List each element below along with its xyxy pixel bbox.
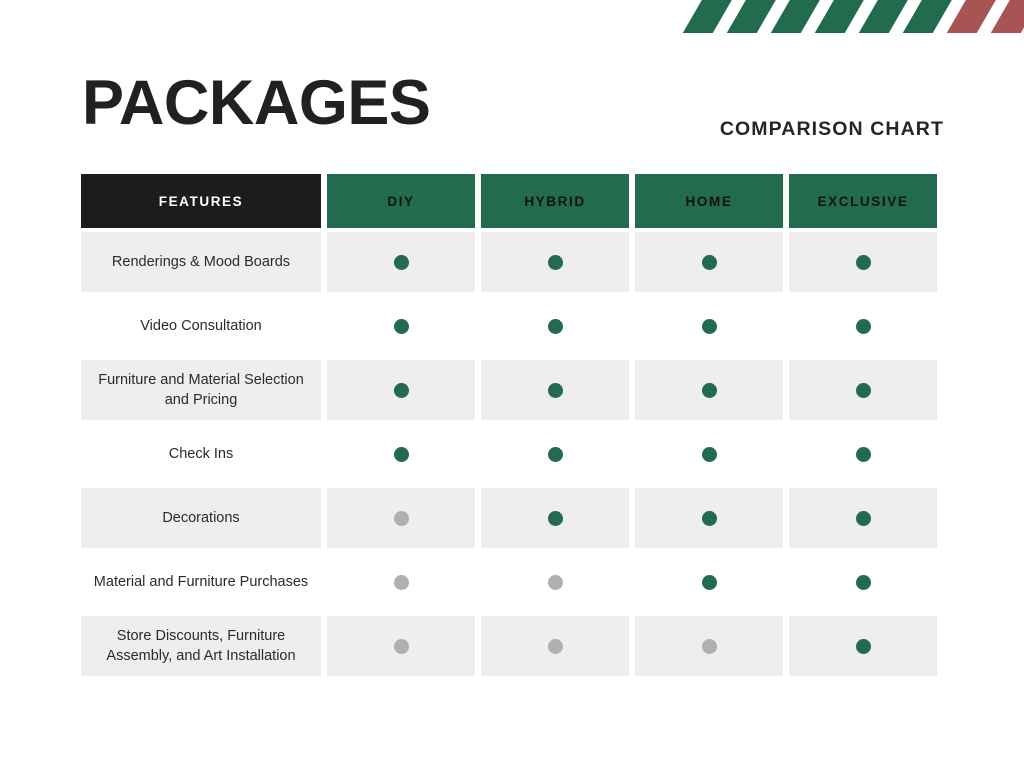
availability-cell-home: [635, 360, 783, 420]
page-title: PACKAGES: [82, 72, 430, 135]
availability-cell-diy: [327, 616, 475, 676]
availability-cell-exclusive: [789, 360, 937, 420]
column-header-hybrid: HYBRID: [481, 174, 629, 228]
table-row: Video Consultation: [81, 296, 944, 356]
availability-cell-home: [635, 488, 783, 548]
column-header-home: HOME: [635, 174, 783, 228]
availability-cell-hybrid: [481, 488, 629, 548]
availability-cell-diy: [327, 424, 475, 484]
included-dot-icon: [856, 511, 871, 526]
feature-label: Renderings & Mood Boards: [81, 232, 321, 292]
availability-cell-diy: [327, 360, 475, 420]
availability-cell-hybrid: [481, 296, 629, 356]
feature-label: Store Discounts, Furniture Assembly, and…: [81, 616, 321, 676]
stripe-green: [679, 0, 736, 33]
included-dot-icon: [702, 575, 717, 590]
included-dot-icon: [548, 319, 563, 334]
availability-cell-home: [635, 232, 783, 292]
column-header-exclusive: EXCLUSIVE: [789, 174, 937, 228]
included-dot-icon: [394, 319, 409, 334]
availability-cell-home: [635, 616, 783, 676]
included-dot-icon: [548, 383, 563, 398]
excluded-dot-icon: [394, 575, 409, 590]
included-dot-icon: [548, 255, 563, 270]
column-header-diy: DIY: [327, 174, 475, 228]
availability-cell-home: [635, 552, 783, 612]
feature-label: Check Ins: [81, 424, 321, 484]
availability-cell-hybrid: [481, 552, 629, 612]
excluded-dot-icon: [548, 575, 563, 590]
included-dot-icon: [548, 511, 563, 526]
availability-cell-hybrid: [481, 360, 629, 420]
table-body: Renderings & Mood BoardsVideo Consultati…: [81, 232, 944, 676]
stripe-red: [943, 0, 1000, 33]
included-dot-icon: [702, 319, 717, 334]
availability-cell-home: [635, 296, 783, 356]
availability-cell-home: [635, 424, 783, 484]
availability-cell-exclusive: [789, 232, 937, 292]
included-dot-icon: [394, 447, 409, 462]
included-dot-icon: [702, 255, 717, 270]
included-dot-icon: [702, 383, 717, 398]
excluded-dot-icon: [702, 639, 717, 654]
included-dot-icon: [702, 447, 717, 462]
included-dot-icon: [548, 447, 563, 462]
availability-cell-diy: [327, 232, 475, 292]
table-row: Renderings & Mood Boards: [81, 232, 944, 292]
availability-cell-exclusive: [789, 296, 937, 356]
title-block: PACKAGES COMPARISON CHART: [0, 78, 1024, 148]
stripe-green: [723, 0, 780, 33]
feature-label: Decorations: [81, 488, 321, 548]
availability-cell-exclusive: [789, 616, 937, 676]
availability-cell-diy: [327, 488, 475, 548]
feature-label: Video Consultation: [81, 296, 321, 356]
included-dot-icon: [856, 255, 871, 270]
table-row: Furniture and Material Selection and Pri…: [81, 360, 944, 420]
availability-cell-exclusive: [789, 552, 937, 612]
feature-label: Furniture and Material Selection and Pri…: [81, 360, 321, 420]
availability-cell-diy: [327, 552, 475, 612]
included-dot-icon: [856, 319, 871, 334]
included-dot-icon: [394, 255, 409, 270]
availability-cell-hybrid: [481, 424, 629, 484]
excluded-dot-icon: [394, 639, 409, 654]
stripe-green: [811, 0, 868, 33]
stripe-green: [767, 0, 824, 33]
included-dot-icon: [856, 447, 871, 462]
availability-cell-diy: [327, 296, 475, 356]
table-row: Store Discounts, Furniture Assembly, and…: [81, 616, 944, 676]
column-header-features: FEATURES: [81, 174, 321, 228]
included-dot-icon: [856, 639, 871, 654]
excluded-dot-icon: [394, 511, 409, 526]
included-dot-icon: [394, 383, 409, 398]
included-dot-icon: [856, 575, 871, 590]
table-header-row: FEATURES DIY HYBRID HOME EXCLUSIVE: [81, 174, 944, 228]
comparison-table: FEATURES DIY HYBRID HOME EXCLUSIVE Rende…: [81, 174, 944, 676]
diagonal-stripe-banner: [676, 0, 1024, 33]
availability-cell-exclusive: [789, 424, 937, 484]
page-subtitle: COMPARISON CHART: [720, 118, 944, 141]
table-row: Check Ins: [81, 424, 944, 484]
included-dot-icon: [702, 511, 717, 526]
availability-cell-hybrid: [481, 616, 629, 676]
stripe-green: [855, 0, 912, 33]
excluded-dot-icon: [548, 639, 563, 654]
availability-cell-exclusive: [789, 488, 937, 548]
feature-label: Material and Furniture Purchases: [81, 552, 321, 612]
table-row: Decorations: [81, 488, 944, 548]
table-row: Material and Furniture Purchases: [81, 552, 944, 612]
included-dot-icon: [856, 383, 871, 398]
stripe-green: [899, 0, 956, 33]
availability-cell-hybrid: [481, 232, 629, 292]
